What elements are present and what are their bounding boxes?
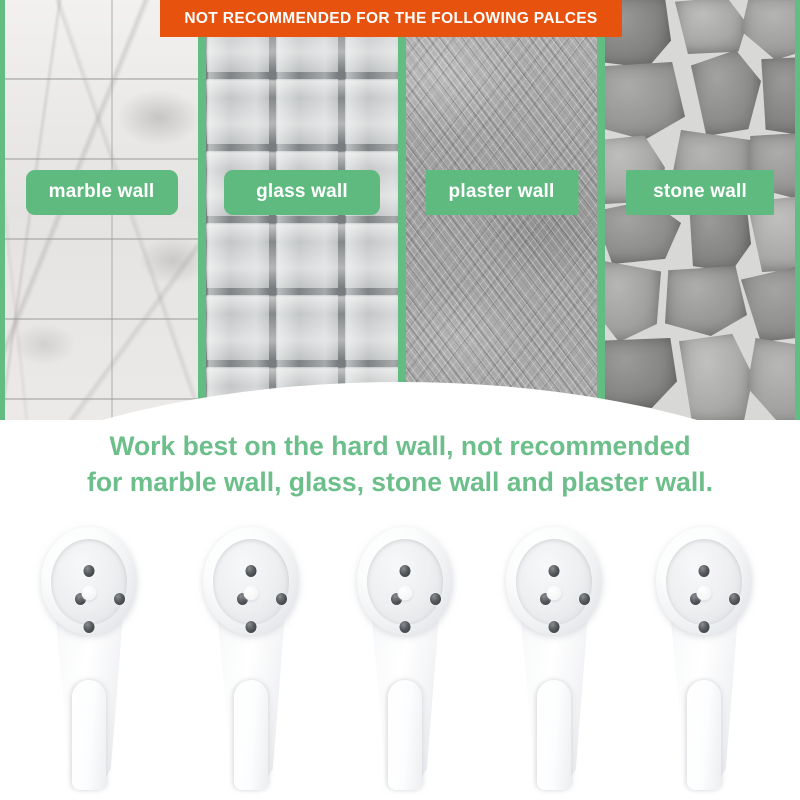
hook-center-dimple bbox=[547, 586, 562, 601]
stone-flagstone bbox=[747, 338, 800, 420]
wall-panel-stone: stone wall bbox=[601, 0, 800, 420]
hook-pin-hole-east bbox=[114, 593, 125, 605]
wall-panel-glass: glass wall bbox=[202, 0, 402, 420]
stone-flagstone bbox=[601, 338, 677, 408]
hook-pin-hole-north bbox=[400, 565, 411, 577]
stone-flagstone bbox=[741, 0, 800, 60]
hook-pin-hole-south bbox=[549, 621, 560, 633]
stone-flagstone bbox=[691, 50, 761, 136]
hook-head-recess bbox=[666, 539, 742, 625]
hook-pin-hole-south bbox=[246, 621, 257, 633]
hook-head-recess bbox=[51, 539, 127, 625]
hook-head bbox=[203, 527, 299, 635]
hook-tongue bbox=[388, 680, 422, 790]
hook-head bbox=[506, 527, 602, 635]
wall-label-glass: glass wall bbox=[224, 170, 380, 215]
hook-pin-hole-east bbox=[579, 593, 590, 605]
hook-head-recess bbox=[213, 539, 289, 625]
hook-head-recess bbox=[516, 539, 592, 625]
caption-line-2: for marble wall, glass, stone wall and p… bbox=[0, 464, 800, 500]
hook-tongue bbox=[234, 680, 268, 790]
wall-label-plaster: plaster wall bbox=[425, 170, 578, 215]
hook-head-recess bbox=[367, 539, 443, 625]
wall-panel-plaster: plaster wall bbox=[402, 0, 601, 420]
hook-pin-hole-north bbox=[699, 565, 710, 577]
hook-center-dimple bbox=[82, 586, 97, 601]
stone-flagstone bbox=[675, 0, 747, 54]
stone-flagstone bbox=[601, 62, 685, 140]
hook-center-dimple bbox=[244, 586, 259, 601]
hook-head bbox=[41, 527, 137, 635]
stone-flagstone bbox=[679, 332, 753, 420]
wall-label-stone: stone wall bbox=[626, 170, 774, 215]
product-hook bbox=[500, 525, 608, 785]
stone-flagstone bbox=[665, 266, 747, 336]
wall-panel-marble: marble wall bbox=[0, 0, 202, 420]
hook-center-dimple bbox=[398, 586, 413, 601]
product-hook bbox=[351, 525, 459, 785]
hook-pin-hole-north bbox=[84, 565, 95, 577]
header-banner-text: NOT RECOMMENDED FOR THE FOLLOWING PALCES bbox=[184, 10, 597, 28]
hook-pin-hole-south bbox=[400, 621, 411, 633]
hook-pin-hole-east bbox=[276, 593, 287, 605]
header-banner: NOT RECOMMENDED FOR THE FOLLOWING PALCES bbox=[160, 0, 622, 37]
product-hook bbox=[197, 525, 305, 785]
hook-pin-hole-east bbox=[729, 593, 740, 605]
hook-pin-hole-south bbox=[84, 621, 95, 633]
stone-flagstone bbox=[601, 260, 661, 342]
wall-label-marble: marble wall bbox=[26, 170, 178, 215]
product-hook bbox=[650, 525, 758, 785]
hook-pin-hole-south bbox=[699, 621, 710, 633]
hook-head bbox=[357, 527, 453, 635]
hook-pin-hole-north bbox=[246, 565, 257, 577]
wall-panels-strip: marble wall glass wall plaster wall ston… bbox=[0, 0, 800, 420]
infographic-page: marble wall glass wall plaster wall ston… bbox=[0, 0, 800, 800]
hook-center-dimple bbox=[697, 586, 712, 601]
product-hooks-row bbox=[0, 525, 800, 790]
stone-flagstone bbox=[741, 266, 800, 342]
caption-text: Work best on the hard wall, not recommen… bbox=[0, 428, 800, 500]
product-hook bbox=[35, 525, 143, 785]
hook-head bbox=[656, 527, 752, 635]
caption-line-1: Work best on the hard wall, not recommen… bbox=[0, 428, 800, 464]
hook-pin-hole-north bbox=[549, 565, 560, 577]
hook-pin-hole-east bbox=[430, 593, 441, 605]
stone-flagstone bbox=[757, 56, 800, 136]
hook-tongue bbox=[72, 680, 106, 790]
hook-tongue bbox=[537, 680, 571, 790]
hook-tongue bbox=[687, 680, 721, 790]
